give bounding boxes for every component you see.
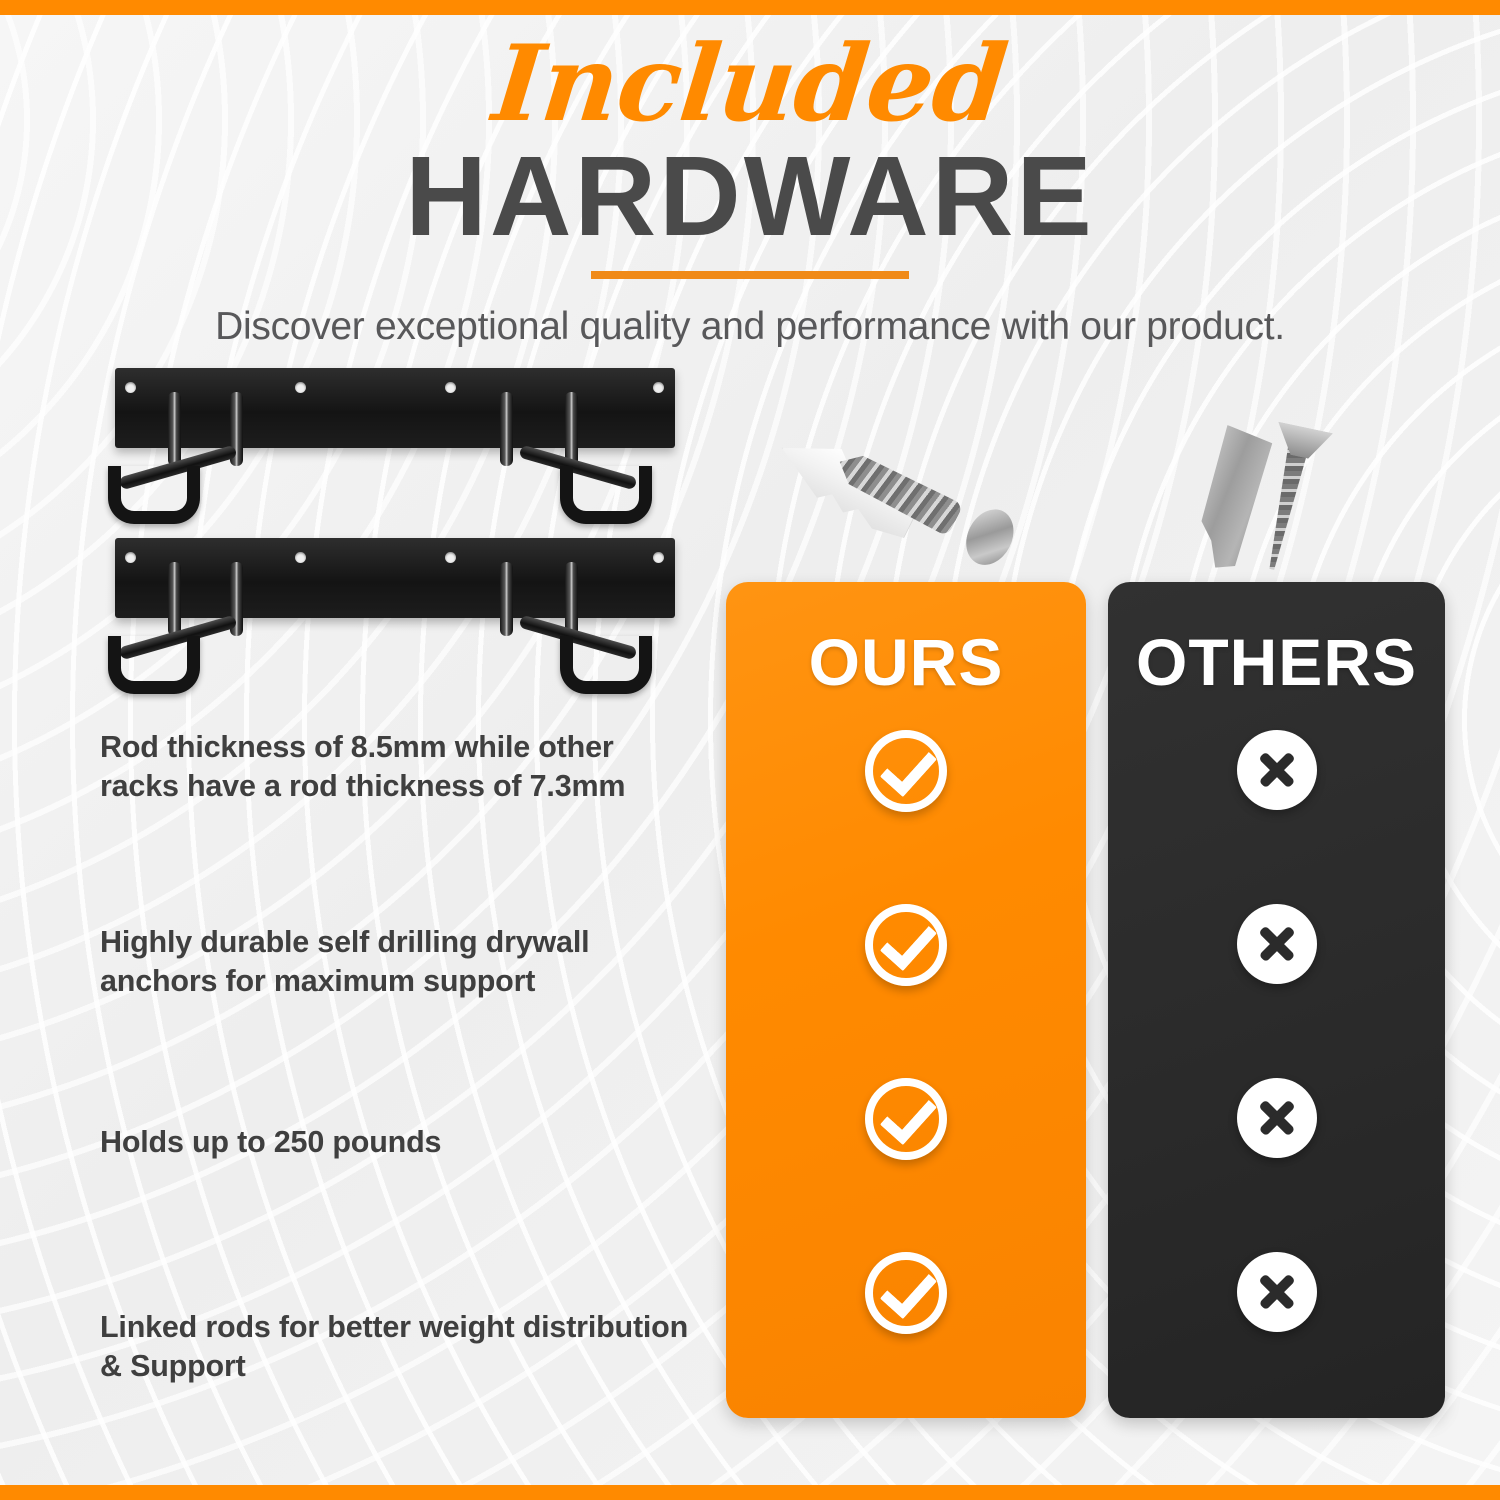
feature-item-drywall-anchors: Highly durable self drilling drywall anc…	[100, 923, 700, 1123]
expansion-plug-image	[1190, 412, 1420, 592]
rack-rod	[565, 392, 578, 466]
storage-rack-2	[100, 538, 675, 703]
check-icon	[865, 1078, 947, 1160]
rack-rod	[500, 562, 513, 636]
page-subtitle: Discover exceptional quality and perform…	[0, 305, 1500, 349]
feature-item-weight-capacity: Holds up to 250 pounds	[100, 1123, 700, 1308]
product-image-racks	[100, 360, 700, 710]
rack-back-plate	[115, 538, 675, 618]
mounting-hole	[125, 552, 136, 563]
rack-rod	[500, 392, 513, 466]
others-row-3	[1108, 1078, 1445, 1158]
drywall-anchor-image	[765, 432, 1065, 592]
wood-screw-head	[1272, 422, 1333, 463]
rack-rod	[168, 392, 181, 466]
mounting-hole	[295, 552, 306, 563]
others-row-1	[1108, 730, 1445, 810]
cross-icon	[1237, 730, 1317, 810]
panel-title-ours: OURS	[726, 624, 1086, 700]
cross-icon	[1237, 1078, 1317, 1158]
feature-list: Rod thickness of 8.5mm while other racks…	[100, 728, 700, 1408]
check-icon	[865, 730, 947, 812]
others-mark-column	[1108, 730, 1445, 1418]
j-hook	[108, 466, 200, 524]
page-title: HARDWARE	[0, 140, 1500, 253]
feature-item-rod-thickness: Rod thickness of 8.5mm while other racks…	[100, 728, 700, 923]
comparison-panel-others: OTHERS	[1108, 582, 1445, 1418]
comparison-panel-ours: OURS	[726, 582, 1086, 1418]
infographic-page: Included HARDWARE Discover exceptional q…	[0, 0, 1500, 1500]
title-underline	[591, 271, 909, 279]
screw-shaft	[832, 446, 964, 537]
mounting-hole	[295, 382, 306, 393]
j-hook	[560, 636, 652, 694]
ours-mark-column	[726, 730, 1086, 1418]
mounting-hole	[445, 382, 456, 393]
others-row-2	[1108, 904, 1445, 984]
wood-screw-shaft	[1258, 445, 1313, 573]
mounting-hole	[653, 382, 664, 393]
ours-row-1	[726, 730, 1086, 812]
ours-row-2	[726, 904, 1086, 986]
ours-row-4	[726, 1252, 1086, 1334]
check-icon	[865, 1252, 947, 1334]
j-hook	[560, 466, 652, 524]
mounting-hole	[653, 552, 664, 563]
storage-rack-1	[100, 368, 675, 533]
check-icon	[865, 904, 947, 986]
others-row-4	[1108, 1252, 1445, 1332]
mounting-hole	[125, 382, 136, 393]
panel-title-others: OTHERS	[1108, 624, 1445, 700]
metal-screw-icon	[826, 433, 1004, 565]
j-hook	[108, 636, 200, 694]
cross-icon	[1237, 1252, 1317, 1332]
bottom-accent-bar	[0, 1485, 1500, 1500]
top-accent-bar	[0, 0, 1500, 15]
feature-item-linked-rods: Linked rods for better weight distributi…	[100, 1308, 700, 1408]
rack-back-plate	[115, 368, 675, 448]
script-title: Included	[0, 28, 1500, 138]
cross-icon	[1237, 904, 1317, 984]
header: Included HARDWARE Discover exceptional q…	[0, 28, 1500, 349]
ours-row-3	[726, 1078, 1086, 1160]
rack-rod	[565, 562, 578, 636]
rack-rod	[168, 562, 181, 636]
mounting-hole	[445, 552, 456, 563]
screw-head	[957, 501, 1023, 573]
